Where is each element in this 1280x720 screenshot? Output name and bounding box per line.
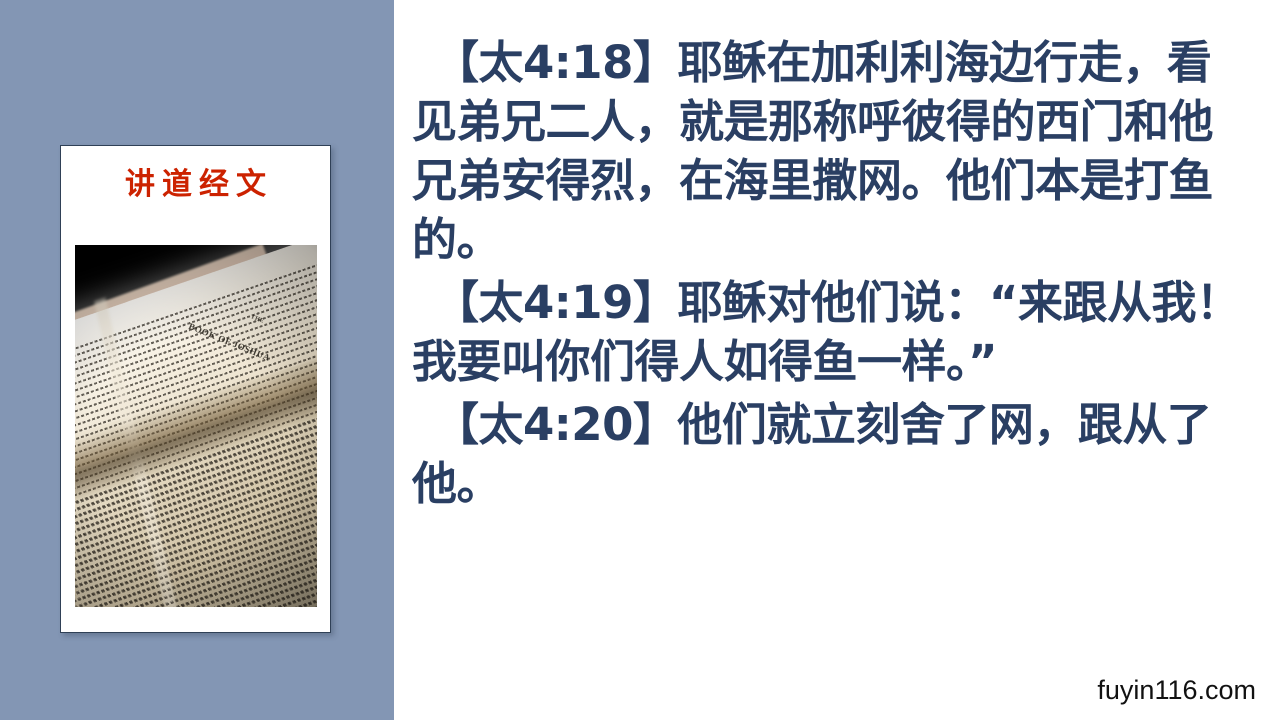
- scripture-card-title: 讲道经文: [61, 168, 330, 201]
- site-watermark: fuyin116.com: [1097, 675, 1256, 706]
- right-panel: 【太4:18】耶稣在加利利海边行走，看见弟兄二人，就是那称呼彼得的西门和他兄弟安…: [394, 0, 1280, 720]
- left-panel: 讲道经文 THE BOOK OF JOSHUA: [0, 0, 394, 720]
- scripture-text-block: 【太4:18】耶稣在加利利海边行走，看见弟兄二人，就是那称呼彼得的西门和他兄弟安…: [412, 34, 1242, 518]
- verse-paragraph: 【太4:19】耶稣对他们说：“来跟从我！我要叫你们得人如得鱼一样。”: [412, 274, 1242, 392]
- open-bible-photo: THE BOOK OF JOSHUA: [75, 245, 317, 607]
- verse-paragraph: 【太4:20】他们就立刻舍了网，跟从了他。: [412, 396, 1242, 514]
- verse-paragraph: 【太4:18】耶稣在加利利海边行走，看见弟兄二人，就是那称呼彼得的西门和他兄弟安…: [412, 34, 1242, 270]
- scripture-card: 讲道经文 THE BOOK OF JOSHUA: [60, 145, 331, 633]
- slide-canvas: 讲道经文 THE BOOK OF JOSHUA 【太4:18】耶稣在加利利海边行…: [0, 0, 1280, 720]
